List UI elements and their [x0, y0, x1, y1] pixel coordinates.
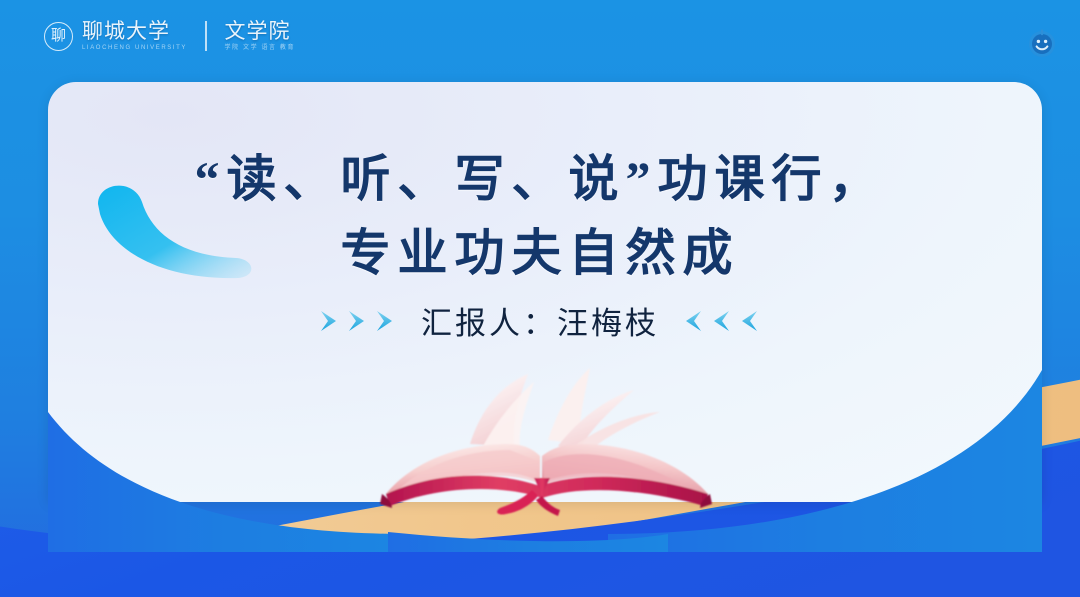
- chevrons-left-icon: [675, 306, 761, 336]
- logo-divider: [205, 21, 207, 51]
- college-name-en: 学院 文学 语言 教育: [225, 45, 296, 51]
- university-name-en: LIAOCHENG UNIVERSITY: [82, 45, 187, 51]
- university-seal-icon: 聊: [44, 22, 73, 51]
- smiley-face-icon: [1026, 28, 1058, 60]
- university-logo: 聊 聊城大学 LIAOCHENG UNIVERSITY 文学院 学院 文学 语言…: [44, 16, 295, 56]
- university-name-block: 聊城大学 LIAOCHENG UNIVERSITY: [82, 21, 187, 51]
- title-line-2: 专业功夫自然成: [0, 216, 1080, 290]
- presenter-row: 汇报人：汪梅枝: [0, 298, 1080, 343]
- chevrons-right-icon: [319, 306, 405, 336]
- title-line-1: “读、听、写、说”功课行，: [0, 142, 1080, 216]
- open-book-illustration: [352, 366, 742, 526]
- university-name-cn: 聊城大学: [82, 21, 187, 42]
- title-slide: 聊 聊城大学 LIAOCHENG UNIVERSITY 文学院 学院 文学 语言…: [0, 0, 1080, 597]
- presenter-label: 汇报人：汪梅枝: [421, 298, 659, 343]
- college-name-block: 文学院 学院 文学 语言 教育: [225, 21, 296, 51]
- college-name-cn: 文学院: [225, 21, 296, 42]
- slide-title: “读、听、写、说”功课行， 专业功夫自然成: [0, 142, 1080, 290]
